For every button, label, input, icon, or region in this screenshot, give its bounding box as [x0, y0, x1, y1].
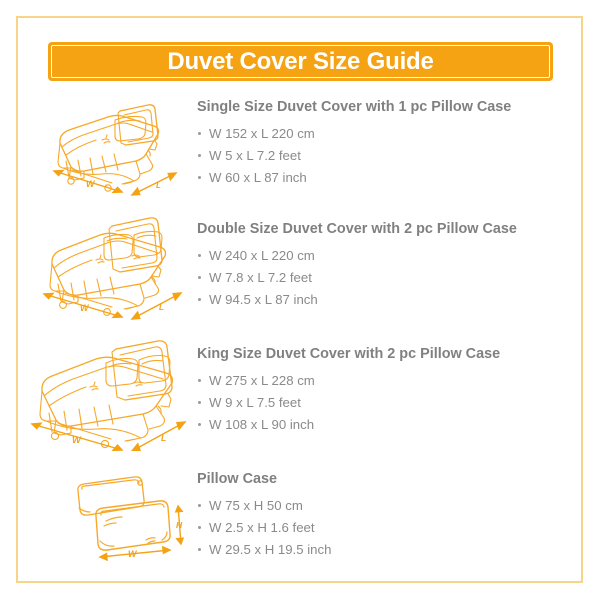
- item-title-pillow: Pillow Case: [197, 470, 578, 488]
- length-label-king: L: [161, 433, 166, 443]
- spec-text: W 94.5 x L 87 inch: [209, 292, 318, 307]
- spec-list-pillow: W 75 x H 50 cm W 2.5 x H 1.6 feet W 29.5…: [197, 495, 578, 561]
- spec-list-single: W 152 x L 220 cm W 5 x L 7.2 feet W 60 x…: [197, 123, 578, 189]
- text-cell-pillow: Pillow Case W 75 x H 50 cm W 2.5 x H 1.6…: [197, 468, 578, 561]
- bullet-dot-icon: [198, 423, 201, 426]
- item-title-double: Double Size Duvet Cover with 2 pc Pillow…: [197, 220, 578, 238]
- pillow-case-icon: W H: [64, 474, 189, 562]
- spec-text: W 60 x L 87 inch: [209, 170, 307, 185]
- bullet-dot-icon: [198, 176, 201, 179]
- spec-text: W 5 x L 7.2 feet: [209, 148, 301, 163]
- bed-double-icon: W L: [34, 216, 199, 320]
- size-row-king: W L King Size Duvet Cover with 2 pc Pill…: [22, 343, 578, 451]
- bullet-dot-icon: [198, 154, 201, 157]
- item-title-single: Single Size Duvet Cover with 1 pc Pillow…: [197, 98, 578, 116]
- bed-single-icon: W L: [36, 98, 196, 196]
- spec-text: W 108 x L 90 inch: [209, 417, 314, 432]
- spec-item: W 75 x H 50 cm: [197, 495, 578, 517]
- spec-text: W 75 x H 50 cm: [209, 498, 303, 513]
- spec-list-double: W 240 x L 220 cm W 7.8 x L 7.2 feet W 94…: [197, 245, 578, 311]
- page-title: Duvet Cover Size Guide: [167, 48, 433, 76]
- bed-king-icon: W L: [22, 339, 197, 451]
- spec-item: W 29.5 x H 19.5 inch: [197, 539, 578, 561]
- spec-item: W 2.5 x H 1.6 feet: [197, 517, 578, 539]
- spec-item: W 275 x L 228 cm: [197, 370, 578, 392]
- length-label-double: L: [159, 303, 164, 312]
- bullet-dot-icon: [198, 254, 201, 257]
- spec-item: W 9 x L 7.5 feet: [197, 392, 578, 414]
- bullet-dot-icon: [198, 548, 201, 551]
- size-guide-page: Duvet Cover Size Guide: [0, 0, 600, 600]
- spec-list-king: W 275 x L 228 cm W 9 x L 7.5 feet W 108 …: [197, 370, 578, 436]
- spec-text: W 29.5 x H 19.5 inch: [209, 542, 331, 557]
- spec-text: W 275 x L 228 cm: [209, 373, 315, 388]
- text-cell-double: Double Size Duvet Cover with 2 pc Pillow…: [197, 218, 578, 311]
- text-cell-king: King Size Duvet Cover with 2 pc Pillow C…: [197, 343, 578, 436]
- size-row-pillow: W H Pillow Case W 75 x H 50 cm W 2.5 x H…: [22, 468, 578, 562]
- spec-item: W 108 x L 90 inch: [197, 414, 578, 436]
- text-cell-single: Single Size Duvet Cover with 1 pc Pillow…: [197, 96, 578, 189]
- illustration-cell-double: W L: [22, 218, 197, 320]
- spec-text: W 9 x L 7.5 feet: [209, 395, 301, 410]
- spec-item: W 240 x L 220 cm: [197, 245, 578, 267]
- spec-item: W 152 x L 220 cm: [197, 123, 578, 145]
- spec-text: W 7.8 x L 7.2 feet: [209, 270, 312, 285]
- height-label-pillow: H: [176, 520, 183, 530]
- bullet-dot-icon: [198, 401, 201, 404]
- spec-text: W 152 x L 220 cm: [209, 126, 315, 141]
- width-label-double: W: [80, 303, 90, 313]
- bullet-dot-icon: [198, 298, 201, 301]
- spec-item: W 7.8 x L 7.2 feet: [197, 267, 578, 289]
- header-banner: Duvet Cover Size Guide: [48, 42, 553, 81]
- bullet-dot-icon: [198, 504, 201, 507]
- bullet-dot-icon: [198, 526, 201, 529]
- item-title-king: King Size Duvet Cover with 2 pc Pillow C…: [197, 345, 578, 363]
- illustration-cell-single: W L: [22, 96, 197, 196]
- spec-item: W 5 x L 7.2 feet: [197, 145, 578, 167]
- bullet-dot-icon: [198, 276, 201, 279]
- spec-item: W 60 x L 87 inch: [197, 167, 578, 189]
- spec-text: W 240 x L 220 cm: [209, 248, 315, 263]
- size-row-double: W L Double Size Duvet Cover with 2 pc Pi…: [22, 218, 578, 320]
- length-label-single: L: [156, 181, 161, 190]
- spec-text: W 2.5 x H 1.6 feet: [209, 520, 315, 535]
- width-label-king: W: [72, 435, 82, 446]
- illustration-cell-king: W L: [22, 343, 197, 451]
- bullet-dot-icon: [198, 379, 201, 382]
- illustration-cell-pillow: W H: [22, 468, 197, 562]
- size-row-single: W L Single Size Duvet Cover with 1 pc Pi…: [22, 96, 578, 196]
- spec-item: W 94.5 x L 87 inch: [197, 289, 578, 311]
- bullet-dot-icon: [198, 132, 201, 135]
